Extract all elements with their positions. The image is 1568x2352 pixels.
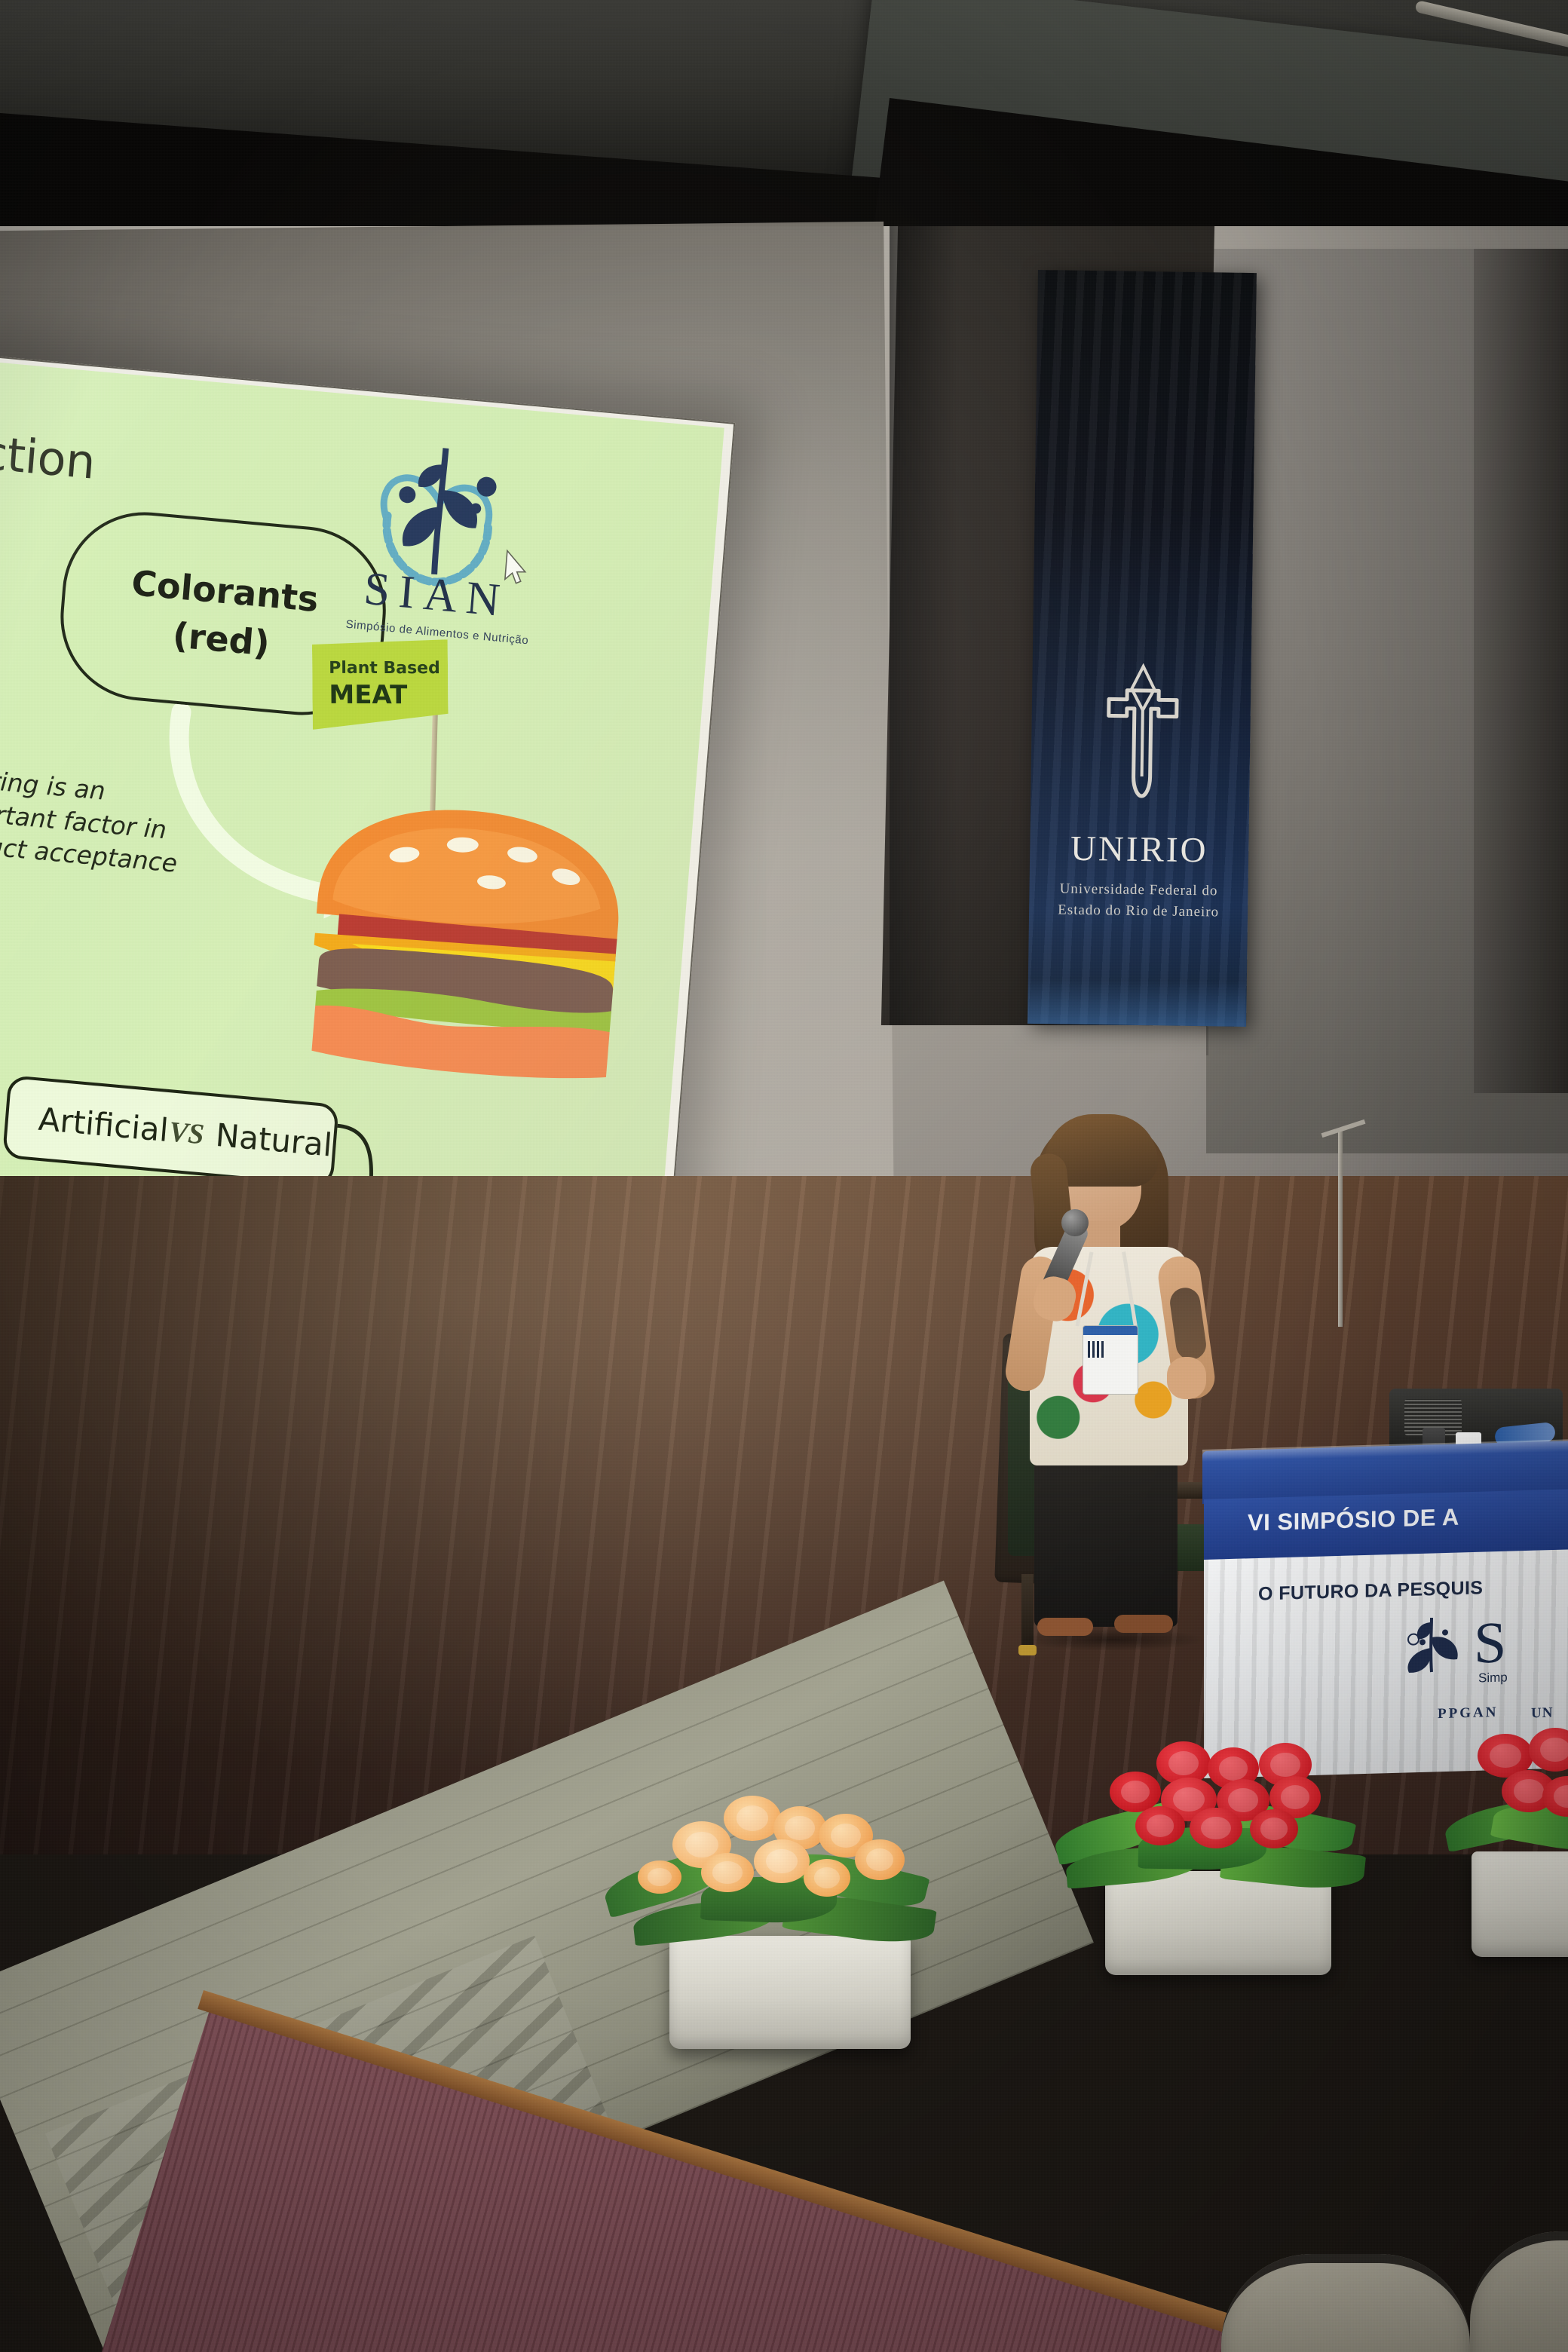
vs-separator: VS bbox=[168, 1115, 206, 1151]
auditorium-scene: Introduction based meat) 38%) Colorants … bbox=[0, 0, 1568, 2352]
orange-bloom bbox=[701, 1853, 754, 1892]
presenter-left-shoe bbox=[1037, 1618, 1093, 1636]
planter-orange-box bbox=[669, 1936, 911, 2049]
artificial-vs-natural-box: Artificial VS Natural bbox=[2, 1075, 339, 1187]
table-ppgan-logo: PPGAN bbox=[1438, 1704, 1498, 1723]
flag-line-2: MEAT bbox=[329, 680, 407, 710]
audience-chair-2 bbox=[1470, 2231, 1568, 2352]
table-sian-plant-logo-icon bbox=[1398, 1612, 1465, 1677]
red-bloom bbox=[1250, 1809, 1298, 1848]
slide-title: Introduction bbox=[0, 410, 97, 490]
head-table: VI SIMPÓSIO DE A O FUTURO DA PESQUIS S S… bbox=[1202, 1425, 1568, 1772]
audience-chair-1-rim bbox=[1221, 2254, 1470, 2352]
table-unirio-logo: UN bbox=[1531, 1705, 1553, 1723]
hamburger-illustration bbox=[296, 785, 635, 1113]
orange-bloom bbox=[724, 1796, 781, 1841]
artificial-label: Artificial bbox=[37, 1101, 170, 1149]
unirio-hanging-banner: UNIRIO Universidade Federal do Estado do… bbox=[1027, 270, 1257, 1027]
presenter-person bbox=[995, 1108, 1236, 1636]
microphone-stand bbox=[1338, 1131, 1343, 1327]
badge-qr-code-icon bbox=[1088, 1341, 1104, 1358]
planter-red-far-right-box bbox=[1472, 1851, 1568, 1957]
unirio-wordmark: UNIRIO bbox=[1030, 828, 1249, 871]
unirio-subtitle-line1: Universidade Federal do bbox=[1029, 880, 1248, 900]
orange-bloom bbox=[638, 1860, 681, 1894]
table-sian-tagline: Simp bbox=[1478, 1670, 1508, 1686]
presenter-trousers bbox=[1034, 1456, 1178, 1627]
mouse-cursor-icon bbox=[501, 549, 530, 586]
presenter-right-shoe bbox=[1114, 1615, 1173, 1633]
plant-based-meat-flag: Plant Based MEAT bbox=[312, 639, 449, 730]
orange-bloom bbox=[804, 1859, 850, 1897]
table-sian-wordmark: S bbox=[1474, 1608, 1506, 1677]
audience-chair-1 bbox=[1221, 2254, 1470, 2352]
audience-chair-2-rim bbox=[1470, 2231, 1568, 2352]
presentation-slide: Introduction based meat) 38%) Colorants … bbox=[0, 350, 724, 1316]
orange-bloom bbox=[855, 1839, 905, 1880]
banner-bottom-glow bbox=[1027, 978, 1247, 1027]
red-bloom bbox=[1135, 1806, 1185, 1845]
unirio-subtitle-line2: Estado do Rio de Janeiro bbox=[1029, 902, 1248, 921]
natural-label: Natural bbox=[214, 1116, 333, 1164]
microphone-head-icon bbox=[1061, 1209, 1089, 1236]
flag-line-1: Plant Based bbox=[329, 659, 440, 678]
unirio-crest-icon bbox=[1100, 663, 1185, 815]
orange-bloom bbox=[754, 1839, 810, 1883]
conference-badge bbox=[1083, 1325, 1138, 1395]
presenter-right-hand bbox=[1167, 1357, 1206, 1399]
red-bloom bbox=[1190, 1808, 1242, 1848]
